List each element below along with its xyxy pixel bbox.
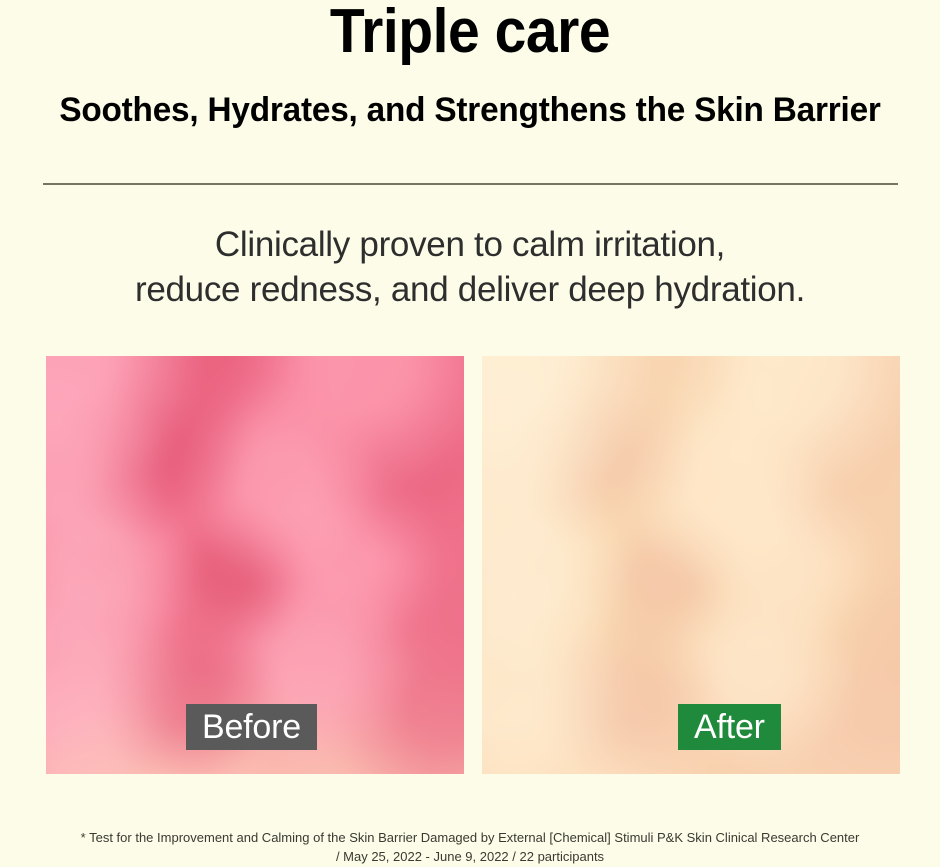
- after-badge: After: [678, 704, 781, 750]
- product-claim-page: Triple care Soothes, Hydrates, and Stren…: [0, 0, 940, 867]
- page-subtitle: Soothes, Hydrates, and Strengthens the S…: [9, 88, 930, 132]
- page-title: Triple care: [38, 0, 903, 68]
- study-footnote: * Test for the Improvement and Calming o…: [0, 828, 940, 866]
- before-image-panel: Before: [46, 356, 464, 774]
- before-after-comparison: Before After: [46, 356, 900, 774]
- study-footnote-line-2: / May 25, 2022 - June 9, 2022 / 22 parti…: [0, 847, 940, 866]
- horizontal-divider: [43, 183, 898, 185]
- study-footnote-line-1: * Test for the Improvement and Calming o…: [0, 828, 940, 847]
- claim-statement: Clinically proven to calm irritation, re…: [0, 222, 940, 312]
- after-image-panel: After: [482, 356, 900, 774]
- claim-statement-line-1: Clinically proven to calm irritation,: [0, 222, 940, 267]
- claim-statement-line-2: reduce redness, and deliver deep hydrati…: [0, 267, 940, 312]
- before-badge: Before: [186, 704, 317, 750]
